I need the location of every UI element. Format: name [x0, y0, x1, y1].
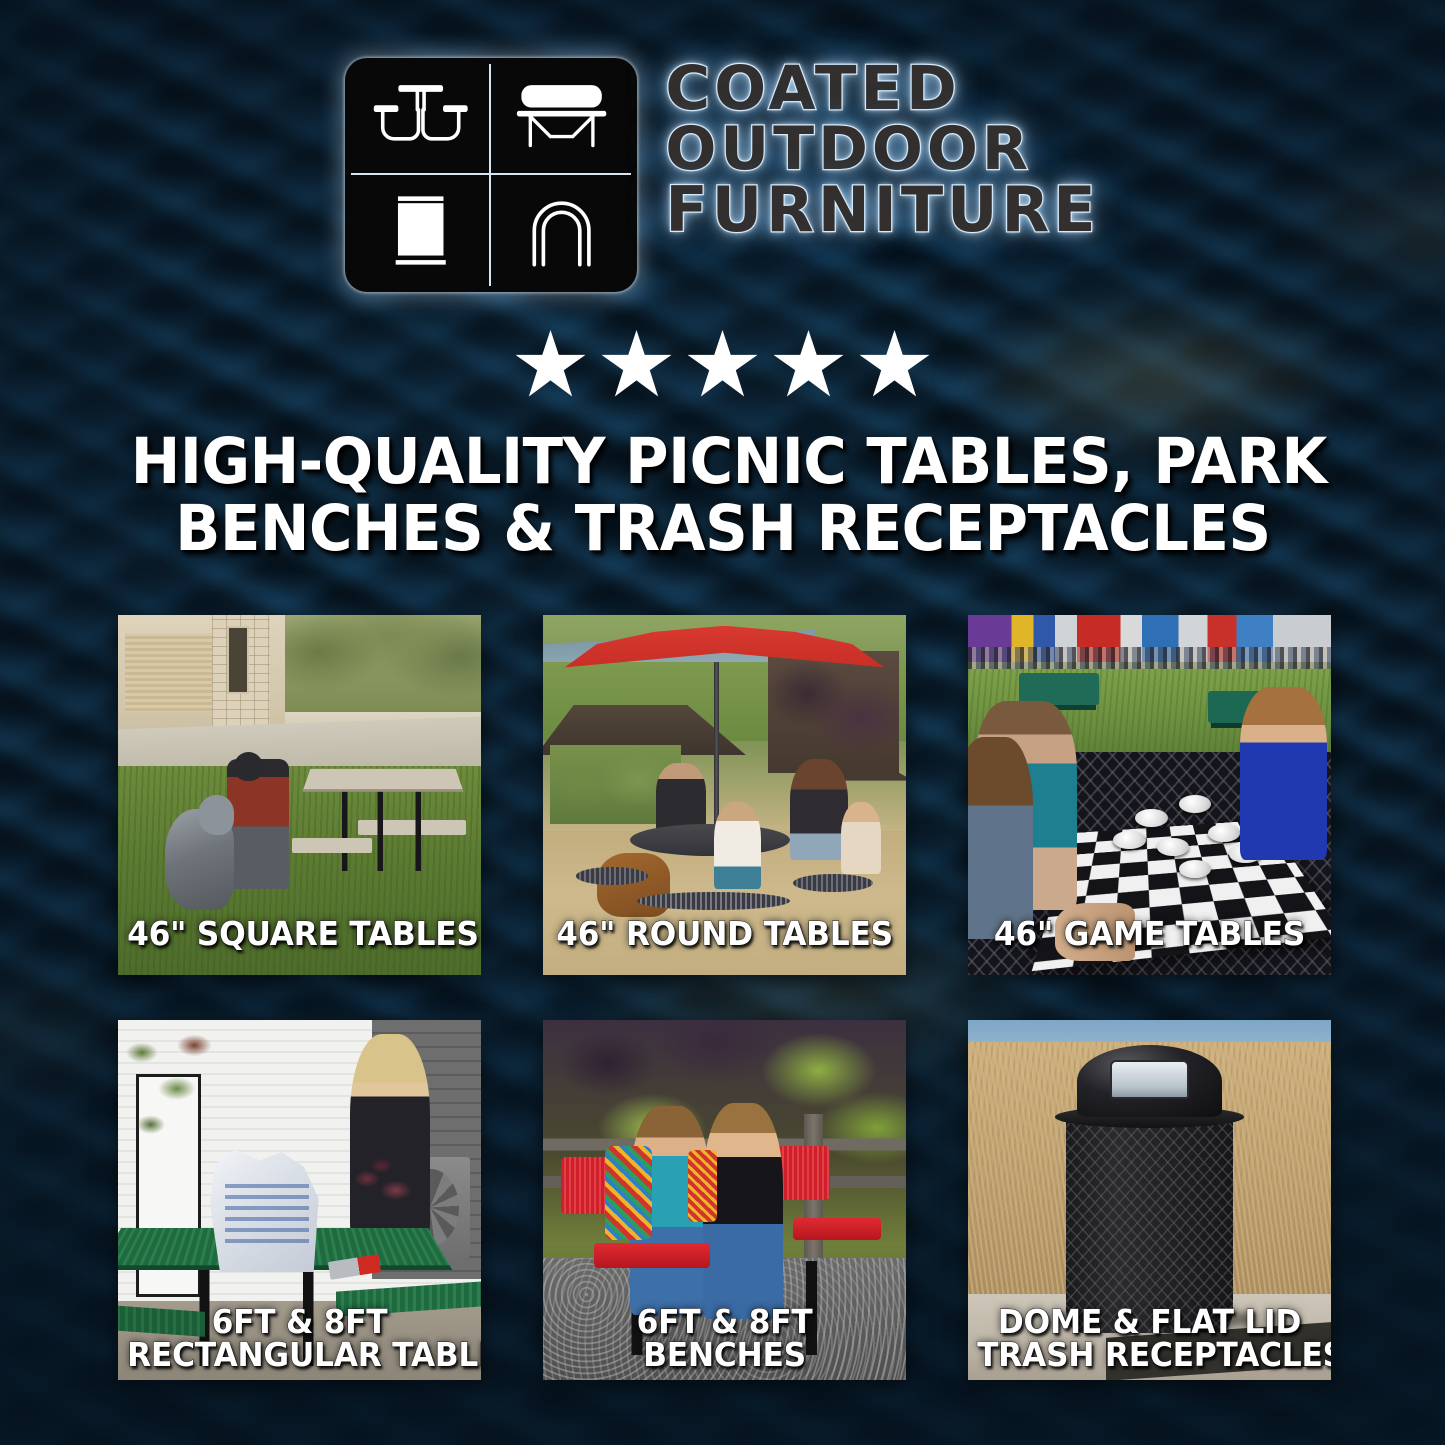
- product-card-benches[interactable]: 6FT & 8FT BENCHES: [543, 1020, 906, 1380]
- star-icon: [602, 330, 672, 400]
- product-caption-line-1: DOME & FLAT LID: [977, 1305, 1322, 1339]
- product-card-game-tables[interactable]: 46" GAME TABLES: [968, 615, 1331, 975]
- headline-line-1: HIGH-QUALITY PICNIC TABLES, PARK: [130, 428, 1314, 495]
- star-rating: [0, 330, 1445, 400]
- brand-word-furniture: FURNITURE: [665, 180, 1099, 240]
- product-caption: 46" SQUARE TABLES: [118, 917, 481, 951]
- product-card-round-tables[interactable]: 46" ROUND TABLES: [543, 615, 906, 975]
- product-caption: 46" ROUND TABLES: [543, 917, 906, 951]
- brand-word-coated: COATED: [665, 60, 1099, 119]
- star-icon: [688, 330, 758, 400]
- bike-rack-icon: [491, 175, 631, 286]
- product-caption-line-2: BENCHES: [552, 1338, 897, 1372]
- picnic-table-icon: [351, 64, 491, 175]
- brand-wordmark: COATED OUTDOOR FURNITURE: [665, 58, 1099, 240]
- product-caption: 46" GAME TABLES: [968, 917, 1331, 951]
- product-caption-line-1: 46" GAME TABLES: [977, 917, 1322, 951]
- product-card-square-tables[interactable]: 46" SQUARE TABLES: [118, 615, 481, 975]
- product-caption-line-1: 6FT & 8FT: [127, 1305, 472, 1339]
- star-icon: [860, 330, 930, 400]
- product-card-rectangular-tables[interactable]: 6FT & 8FT RECTANGULAR TABLES: [118, 1020, 481, 1380]
- headline: HIGH-QUALITY PICNIC TABLES, PARK BENCHES…: [93, 428, 1353, 563]
- product-caption-line-2: TRASH RECEPTACLES: [977, 1338, 1322, 1372]
- product-caption-line-1: 6FT & 8FT: [552, 1305, 897, 1339]
- star-icon: [774, 330, 844, 400]
- product-caption: 6FT & 8FT BENCHES: [543, 1305, 906, 1372]
- bench-icon: [491, 64, 631, 175]
- product-caption-line-1: 46" SQUARE TABLES: [127, 917, 472, 951]
- brand-word-outdoor: OUTDOOR: [665, 121, 1099, 179]
- product-caption: 6FT & 8FT RECTANGULAR TABLES: [118, 1305, 481, 1372]
- brand-logo-lockup: COATED OUTDOOR FURNITURE: [0, 58, 1445, 292]
- product-grid: 46" SQUARE TABLES 46": [118, 615, 1328, 1380]
- product-caption-line-2: RECTANGULAR TABLES: [127, 1338, 472, 1372]
- headline-line-2: BENCHES & TRASH RECEPTACLES: [130, 495, 1314, 562]
- logo-mark: [345, 58, 637, 292]
- product-caption-line-1: 46" ROUND TABLES: [552, 917, 897, 951]
- star-icon: [516, 330, 586, 400]
- poster-canvas: COATED OUTDOOR FURNITURE HIGH-QUALITY PI…: [0, 0, 1445, 1445]
- product-card-trash-receptacles[interactable]: DOME & FLAT LID TRASH RECEPTACLES: [968, 1020, 1331, 1380]
- trash-receptacle-icon: [351, 175, 491, 286]
- product-caption: DOME & FLAT LID TRASH RECEPTACLES: [968, 1305, 1331, 1372]
